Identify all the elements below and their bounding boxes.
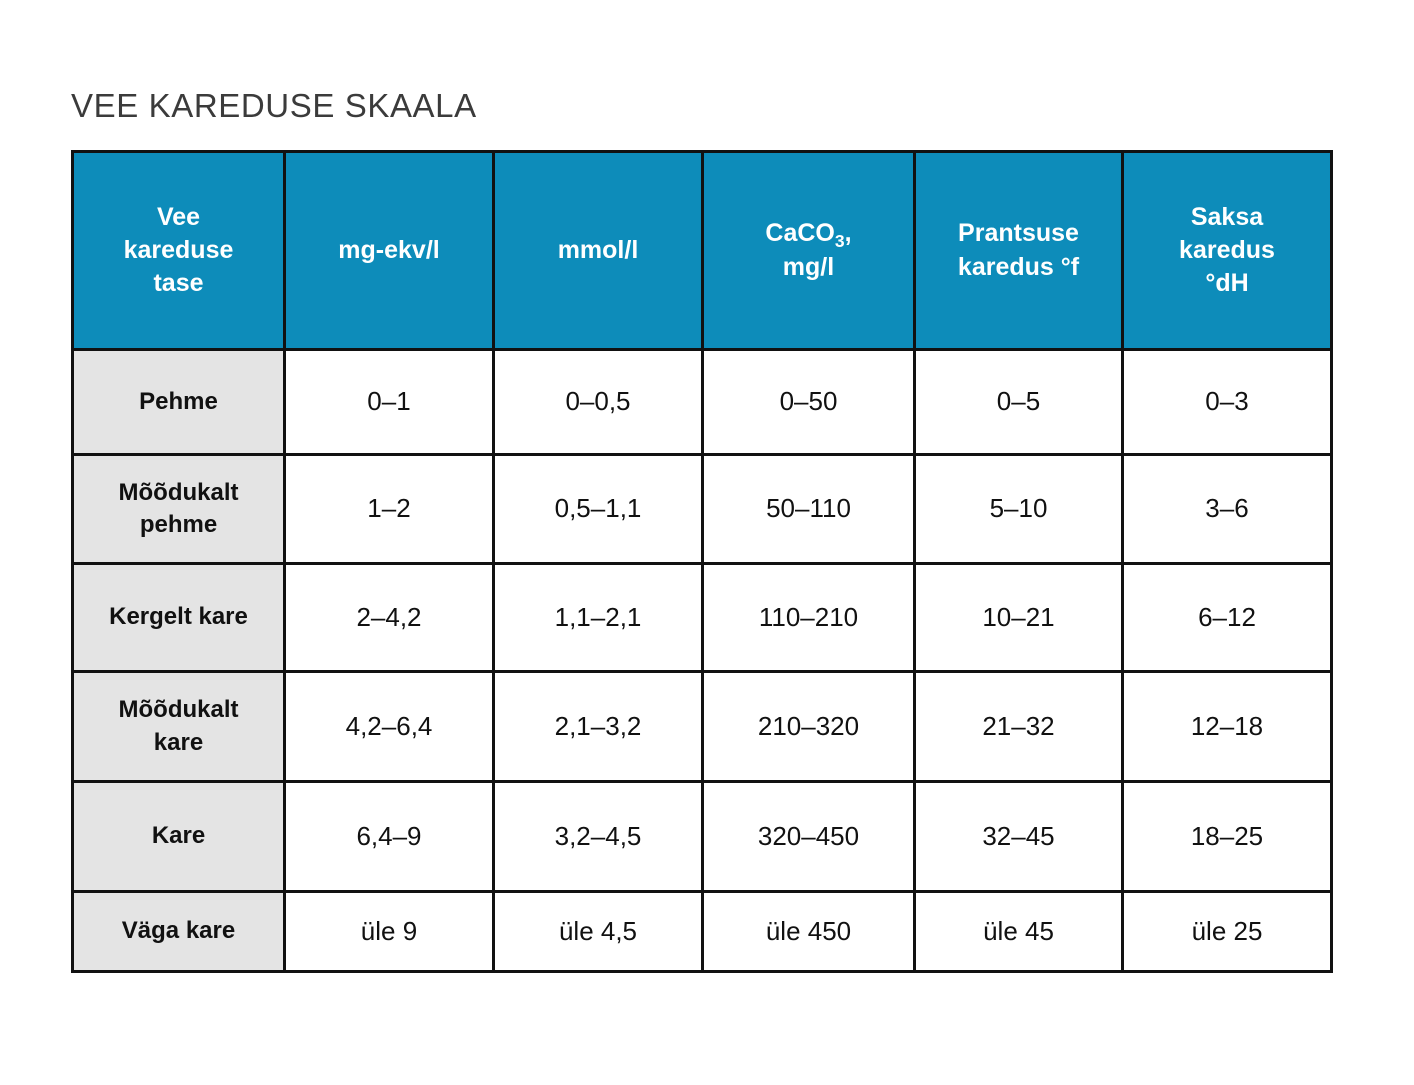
cell-mg-ekv: 6,4–9 <box>285 782 494 892</box>
cell-mg-ekv: 0–1 <box>285 350 494 455</box>
header-line-1: Prantsuse <box>958 219 1079 247</box>
table-row: Kergelt kare 2–4,2 1,1–2,1 110–210 10–21… <box>73 564 1332 672</box>
cell-german: 3–6 <box>1123 455 1332 564</box>
header-line-1: Saksa <box>1191 203 1263 231</box>
level-line-2: kare <box>154 729 203 756</box>
column-header-caco3: CaCO3, mg/l <box>703 152 915 350</box>
cell-level: Mõõdukalt pehme <box>73 455 285 564</box>
table-header-row: Vee kareduse tase mg-ekv/l mmol/l CaCO3,… <box>73 152 1332 350</box>
level-line-1: Kare <box>152 822 205 849</box>
table-row: Pehme 0–1 0–0,5 0–50 0–5 0–3 <box>73 350 1332 455</box>
level-line-1: Pehme <box>139 388 218 415</box>
column-header-mmol: mmol/l <box>494 152 703 350</box>
cell-caco3: üle 450 <box>703 892 915 972</box>
cell-mg-ekv: 1–2 <box>285 455 494 564</box>
cell-mmol: üle 4,5 <box>494 892 703 972</box>
cell-mmol: 2,1–3,2 <box>494 672 703 782</box>
cell-mmol: 1,1–2,1 <box>494 564 703 672</box>
cell-level: Väga kare <box>73 892 285 972</box>
table-header: Vee kareduse tase mg-ekv/l mmol/l CaCO3,… <box>73 152 1332 350</box>
cell-french: 21–32 <box>915 672 1123 782</box>
cell-caco3: 210–320 <box>703 672 915 782</box>
cell-mmol: 0,5–1,1 <box>494 455 703 564</box>
table-body: Pehme 0–1 0–0,5 0–50 0–5 0–3 Mõõdukalt p… <box>73 350 1332 972</box>
cell-mg-ekv: 2–4,2 <box>285 564 494 672</box>
header-line-2: kareduse <box>124 236 234 264</box>
column-header-level: Vee kareduse tase <box>73 152 285 350</box>
cell-level: Kare <box>73 782 285 892</box>
cell-caco3: 0–50 <box>703 350 915 455</box>
level-line-1: Mõõdukalt <box>119 696 239 723</box>
water-hardness-table: Vee kareduse tase mg-ekv/l mmol/l CaCO3,… <box>71 150 1333 973</box>
header-line-2: karedus °f <box>958 253 1079 281</box>
cell-french: 10–21 <box>915 564 1123 672</box>
cell-level: Kergelt kare <box>73 564 285 672</box>
cell-mmol: 3,2–4,5 <box>494 782 703 892</box>
column-header-french-hardness: Prantsuse karedus °f <box>915 152 1123 350</box>
cell-french: 0–5 <box>915 350 1123 455</box>
page-title: VEE KAREDUSE SKAALA <box>71 86 477 126</box>
column-header-german-hardness: Saksa karedus °dH <box>1123 152 1332 350</box>
cell-french: üle 45 <box>915 892 1123 972</box>
header-line-1: mmol/l <box>558 236 639 264</box>
page-root: VEE KAREDUSE SKAALA Vee kareduse tase mg… <box>0 0 1414 1085</box>
table-row: Väga kare üle 9 üle 4,5 üle 450 üle 45 ü… <box>73 892 1332 972</box>
level-line-1: Mõõdukalt <box>119 479 239 506</box>
cell-mg-ekv: 4,2–6,4 <box>285 672 494 782</box>
cell-german: 12–18 <box>1123 672 1332 782</box>
cell-french: 32–45 <box>915 782 1123 892</box>
cell-german: 6–12 <box>1123 564 1332 672</box>
table-row: Mõõdukalt kare 4,2–6,4 2,1–3,2 210–320 2… <box>73 672 1332 782</box>
header-subscript: 3 <box>835 231 845 251</box>
header-line-2: karedus <box>1179 236 1275 264</box>
header-line-1: Vee <box>157 203 200 231</box>
column-header-mg-ekv: mg-ekv/l <box>285 152 494 350</box>
cell-mmol: 0–0,5 <box>494 350 703 455</box>
cell-caco3: 110–210 <box>703 564 915 672</box>
header-line-2: mg/l <box>783 253 834 281</box>
header-line-1-tail: , <box>845 219 852 247</box>
cell-german: 18–25 <box>1123 782 1332 892</box>
level-line-1: Kergelt kare <box>109 603 248 630</box>
level-line-2: pehme <box>140 511 217 538</box>
cell-french: 5–10 <box>915 455 1123 564</box>
cell-caco3: 320–450 <box>703 782 915 892</box>
table-row: Mõõdukalt pehme 1–2 0,5–1,1 50–110 5–10 … <box>73 455 1332 564</box>
level-line-1: Väga kare <box>122 917 235 944</box>
header-line-1: mg-ekv/l <box>338 236 439 264</box>
cell-mg-ekv: üle 9 <box>285 892 494 972</box>
header-line-1: CaCO <box>765 219 834 247</box>
cell-level: Mõõdukalt kare <box>73 672 285 782</box>
cell-level: Pehme <box>73 350 285 455</box>
cell-german: 0–3 <box>1123 350 1332 455</box>
header-line-3: °dH <box>1205 269 1248 297</box>
cell-german: üle 25 <box>1123 892 1332 972</box>
table-row: Kare 6,4–9 3,2–4,5 320–450 32–45 18–25 <box>73 782 1332 892</box>
cell-caco3: 50–110 <box>703 455 915 564</box>
header-line-3: tase <box>153 269 203 297</box>
